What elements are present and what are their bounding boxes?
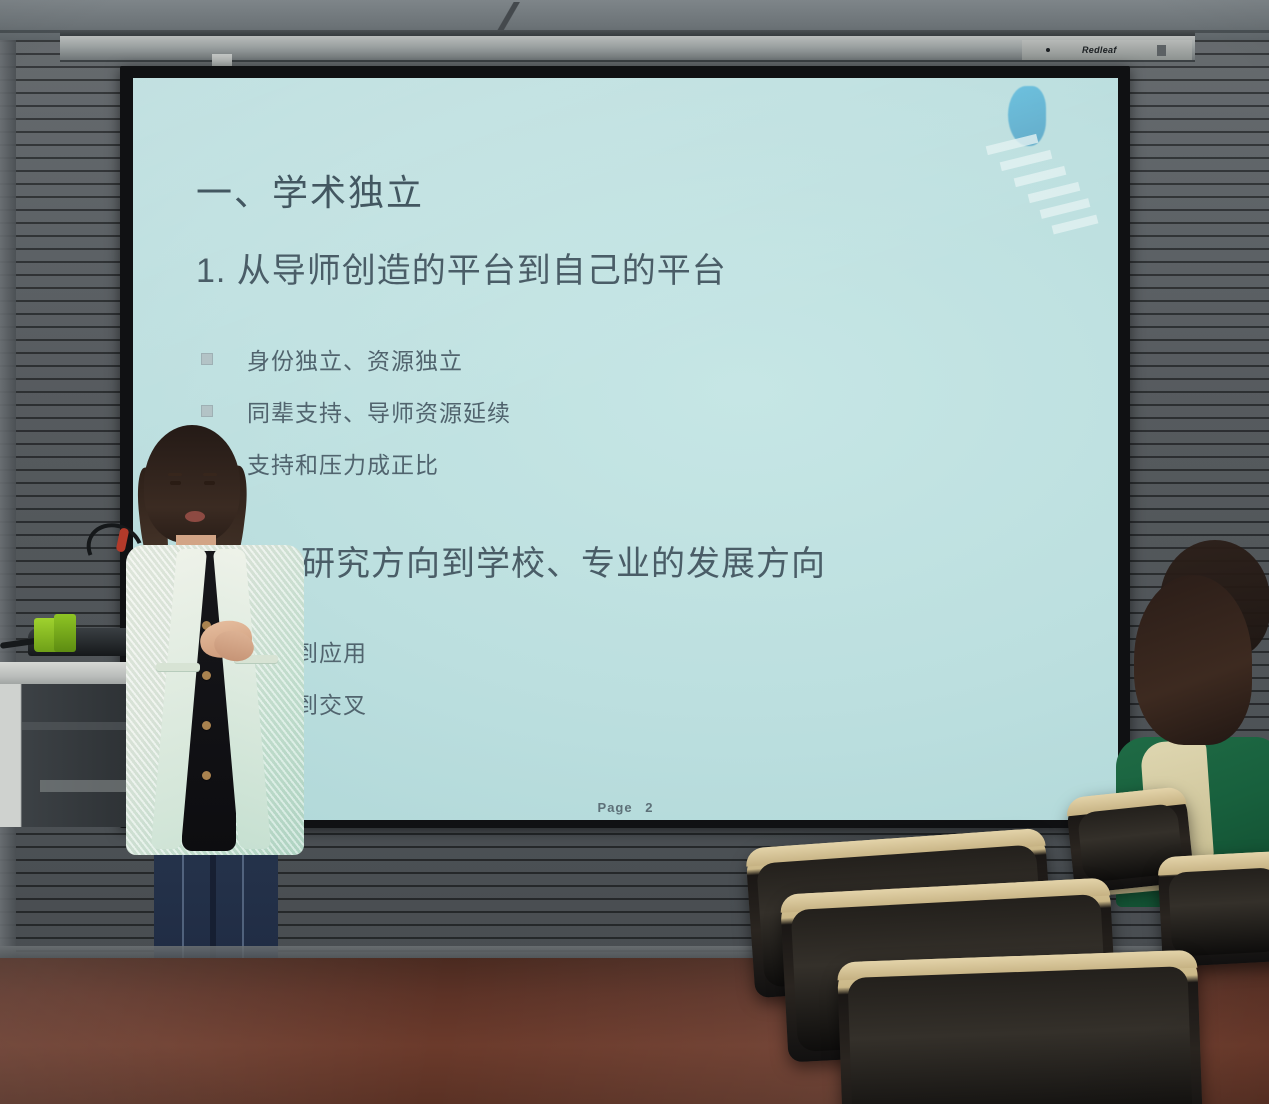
green-marker-holder [54, 614, 76, 652]
seat [837, 950, 1203, 1104]
eye-left [170, 481, 181, 485]
eyebrow-left [168, 473, 182, 476]
presenter-hair [144, 425, 240, 543]
seat-cushion [848, 966, 1193, 1104]
page-number: 2 [645, 800, 653, 815]
brand-dot-icon [1046, 48, 1050, 52]
bullet-square-icon [201, 353, 213, 365]
slide-heading-1: 1. 从导师创造的平台到自己的平台 [196, 243, 727, 292]
jacket-button [202, 671, 211, 680]
jacket-pocket-left [156, 663, 200, 671]
slide-bullet-1: 身份独立、资源独立 [201, 342, 463, 376]
bullet-square-icon [201, 405, 213, 417]
bullet-text: 身份独立、资源独立 [247, 342, 463, 376]
jacket-button [202, 721, 211, 730]
auditorium-seating [740, 790, 1269, 1104]
bullet-text: 同辈支持、导师资源延续 [247, 394, 511, 428]
audience-hair [1134, 575, 1252, 745]
eye-right [204, 481, 215, 485]
slide-section-title: 一、学术独立 [196, 164, 424, 216]
page-label: Page [598, 800, 633, 815]
device-brand-plate: Redleaf [1022, 40, 1192, 60]
brand-label: Redleaf [1082, 45, 1117, 55]
lecture-hall-photo: Redleaf 一、学术独立 1. 从导师创造的平台到自己的平台 身份独立、资源… [0, 0, 1269, 1104]
eyebrow-right [203, 473, 217, 476]
device-indicator-icon [1157, 45, 1166, 56]
jacket-button [202, 771, 211, 780]
mouth [185, 511, 205, 522]
slide-bullet-2: 同辈支持、导师资源延续 [201, 394, 511, 428]
seat-cushion [1168, 867, 1269, 957]
